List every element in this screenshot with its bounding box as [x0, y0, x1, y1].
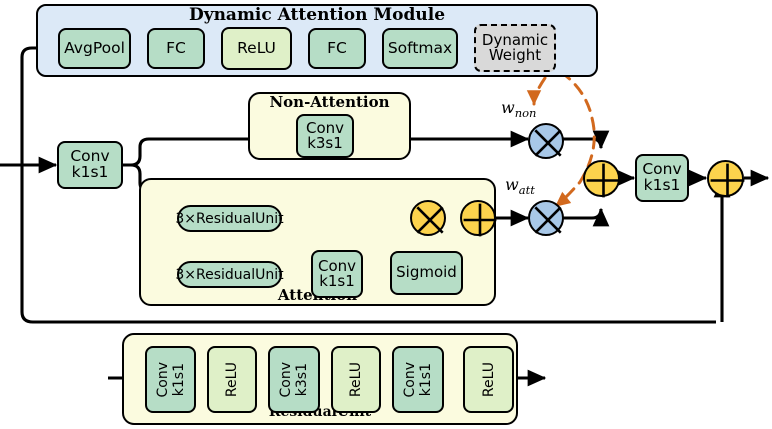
- attention-conv-line2: k1s1: [319, 274, 355, 289]
- residual-block-2-line1: Conv: [279, 362, 293, 398]
- residual-block-0-line1: Conv: [156, 362, 170, 398]
- residual-block-0-line2: k1s1: [172, 363, 186, 396]
- residual-block-5-line1: ReLU: [482, 362, 496, 397]
- non-attention-conv-line2: k3s1: [307, 136, 343, 151]
- residual-block-4: k1s1 Conv: [392, 346, 444, 413]
- attention-branch-bottom-label: 3×ResidualUnit: [175, 267, 283, 283]
- block-softmax-label: Softmax: [388, 41, 452, 57]
- block-avgpool: AvgPool: [58, 28, 131, 69]
- residual-block-3-line1: ReLU: [349, 362, 363, 397]
- residual-block-4-line2: k1s1: [419, 363, 433, 396]
- w-non-sub: non: [515, 106, 537, 120]
- fusion-add-op: [583, 160, 620, 197]
- w-non-label: wnon: [501, 98, 536, 120]
- attention-branch-top-residual: 3×ResidualUnit: [177, 205, 282, 232]
- attention-branch-bottom-residual: 3×ResidualUnit: [177, 261, 282, 288]
- w-att-base: w: [505, 175, 519, 194]
- block-avgpool-label: AvgPool: [64, 41, 125, 57]
- attention-sigmoid-label: Sigmoid: [396, 265, 457, 280]
- residual-block-2: k3s1 Conv: [268, 346, 320, 413]
- residual-block-5: ReLU: [463, 346, 514, 413]
- w-non-multiply-op: [528, 123, 564, 159]
- dynamic-weight-line2: Weight: [489, 48, 541, 63]
- architecture-diagram: Dynamic Attention Module AvgPool FC ReLU…: [0, 0, 772, 429]
- fusion-conv-block: Conv k1s1: [635, 154, 689, 202]
- block-relu-dam: ReLU: [221, 27, 292, 70]
- block-relu-dam-label: ReLU: [237, 41, 276, 57]
- residual-block-1: ReLU: [207, 346, 257, 413]
- residual-block-1-line1: ReLU: [225, 362, 239, 397]
- w-non-base: w: [501, 98, 515, 117]
- residual-block-3: ReLU: [331, 346, 381, 413]
- attention-branch-top-label: 3×ResidualUnit: [175, 211, 283, 227]
- residual-block-2-line2: k3s1: [295, 363, 309, 396]
- fusion-conv-line2: k1s1: [644, 178, 681, 194]
- stem-conv-block: Conv k1s1: [57, 141, 123, 189]
- non-attention-conv-block: Conv k3s1: [296, 114, 354, 158]
- block-fc-1: FC: [147, 28, 205, 69]
- block-softmax: Softmax: [382, 28, 458, 69]
- dynamic-weight-block: Dynamic Weight: [474, 24, 556, 72]
- block-fc-2: FC: [308, 28, 366, 69]
- residual-block-4-line1: Conv: [403, 362, 417, 398]
- w-att-multiply-op: [528, 200, 564, 236]
- attention-multiply-op: [410, 200, 446, 236]
- final-add-op: [707, 160, 744, 197]
- stem-conv-line2: k1s1: [72, 165, 109, 181]
- non-attention-title: Non-Attention: [248, 93, 411, 111]
- dynamic-attention-module-title: Dynamic Attention Module: [36, 5, 598, 25]
- attention-sigmoid-block: Sigmoid: [390, 251, 463, 295]
- w-att-sub: att: [519, 183, 535, 197]
- residual-block-0: k1s1 Conv: [145, 346, 196, 413]
- attention-add-op: [460, 200, 496, 236]
- block-fc-2-label: FC: [327, 41, 347, 57]
- attention-conv-block: Conv k1s1: [311, 250, 363, 298]
- w-att-label: watt: [505, 175, 535, 197]
- block-fc-1-label: FC: [166, 41, 186, 57]
